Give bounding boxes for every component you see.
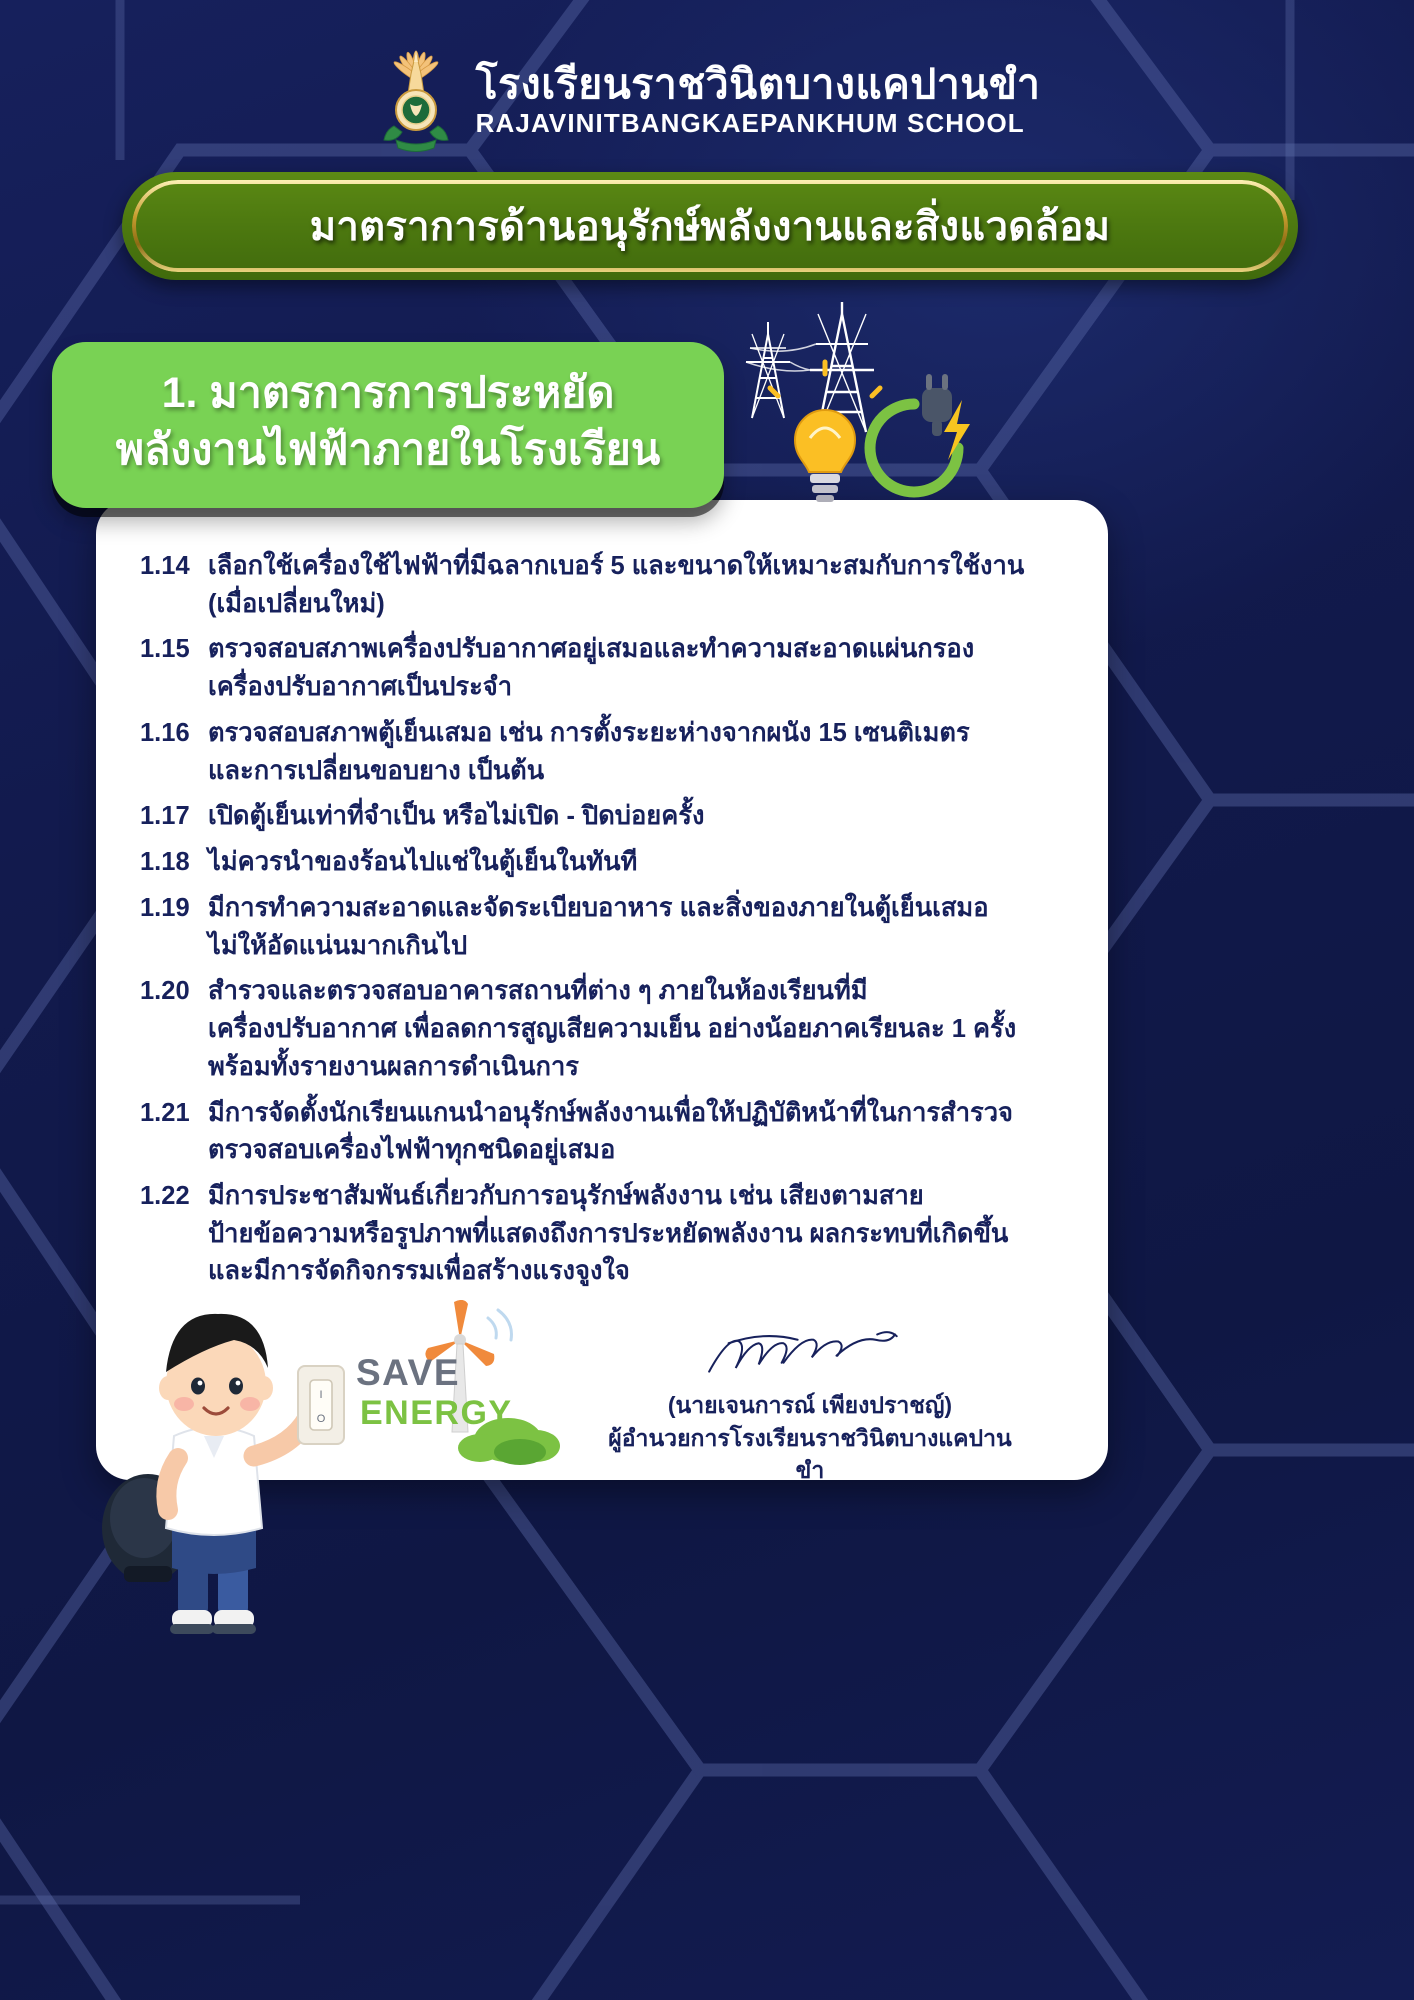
measure-text-line: เลือกใช้เครื่องใช้ไฟฟ้าที่มีฉลากเบอร์ 5 …: [208, 548, 1030, 586]
measure-text: มีการทำความสะอาดและจัดระเบียบอาหาร และสิ…: [208, 890, 1030, 965]
measure-text: เลือกใช้เครื่องใช้ไฟฟ้าที่มีฉลากเบอร์ 5 …: [208, 548, 1030, 623]
measure-text: ไม่ควรนำของร้อนไปแช่ในตู้เย็นในทันที: [208, 844, 1030, 882]
measure-number: 1.15: [140, 631, 208, 669]
light-bulb-icon: [770, 362, 880, 502]
measure-text-line: มีการจัดตั้งนักเรียนแกนนำอนุรักษ์พลังงาน…: [208, 1095, 1030, 1133]
section-heading-tab: 1. มาตรการการประหยัด พลังงานไฟฟ้าภายในโร…: [52, 342, 724, 508]
section-heading-line-1: 1. มาตรการการประหยัด: [162, 365, 615, 422]
measure-text-line: เปิดตู้เย็นเท่าที่จำเป็น หรือไม่เปิด - ป…: [208, 798, 1030, 836]
measure-item: 1.22มีการประชาสัมพันธ์เกี่ยวกับการอนุรัก…: [140, 1178, 1030, 1291]
measure-number: 1.17: [140, 798, 208, 836]
measure-number: 1.14: [140, 548, 208, 586]
measure-item: 1.21มีการจัดตั้งนักเรียนแกนนำอนุรักษ์พลั…: [140, 1095, 1030, 1170]
student-boy-icon: I O: [86, 1280, 356, 1640]
measure-text: สำรวจและตรวจสอบอาคารสถานที่ต่าง ๆ ภายในห…: [208, 973, 1030, 1086]
light-switch-icon: I O: [298, 1366, 344, 1444]
measure-text-line: ป้ายข้อความหรือรูปภาพที่แสดงถึงการประหยั…: [208, 1216, 1030, 1254]
measure-text-line: เครื่องปรับอากาศเป็นประจำ: [208, 669, 1030, 707]
school-crest-icon: [374, 48, 458, 152]
measure-item: 1.20สำรวจและตรวจสอบอาคารสถานที่ต่าง ๆ ภา…: [140, 973, 1030, 1086]
measure-text-line: (เมื่อเปลี่ยนใหม่): [208, 586, 1030, 624]
school-name-en: RAJAVINITBANGKAEPANKHUM SCHOOL: [476, 110, 1041, 136]
measure-item: 1.17เปิดตู้เย็นเท่าที่จำเป็น หรือไม่เปิด…: [140, 798, 1030, 836]
measure-text-line: เครื่องปรับอากาศ เพื่อลดการสูญเสียความเย…: [208, 1011, 1030, 1049]
save-energy-logo: SAVE ENERGY: [348, 1300, 588, 1470]
measure-number: 1.16: [140, 715, 208, 753]
measure-text-line: ไม่ให้อัดแน่นมากเกินไป: [208, 928, 1030, 966]
header-text-group: โรงเรียนราชวินิตบางแคปานขำ RAJAVINITBANG…: [476, 64, 1041, 136]
measure-text-line: ไม่ควรนำของร้อนไปแช่ในตู้เย็นในทันที: [208, 844, 1030, 882]
section-heading-line-2: พลังงานไฟฟ้าภายในโรงเรียน: [116, 422, 661, 479]
measure-text-line: และการเปลี่ยนขอบยาง เป็นต้น: [208, 753, 1030, 791]
handwritten-signature-icon: [695, 1322, 925, 1384]
measure-text: ตรวจสอบสภาพตู้เย็นเสมอ เช่น การตั้งระยะห…: [208, 715, 1030, 790]
measure-number: 1.22: [140, 1178, 208, 1216]
director-role: ผู้อำนวยการโรงเรียนราชวินิตบางแคปานขำ: [600, 1422, 1020, 1487]
school-name-th: โรงเรียนราชวินิตบางแคปานขำ: [476, 64, 1041, 105]
poster-header: โรงเรียนราชวินิตบางแคปานขำ RAJAVINITBANG…: [0, 48, 1414, 152]
student-boy-svg: I O: [86, 1280, 356, 1640]
measure-text-line: มีการทำความสะอาดและจัดระเบียบอาหาร และสิ…: [208, 890, 1030, 928]
measure-item: 1.19มีการทำความสะอาดและจัดระเบียบอาหาร แ…: [140, 890, 1030, 965]
measure-text: ตรวจสอบสภาพเครื่องปรับอากาศอยู่เสมอและทำ…: [208, 631, 1030, 706]
measure-text: มีการประชาสัมพันธ์เกี่ยวกับการอนุรักษ์พล…: [208, 1178, 1030, 1291]
poster-title-banner: มาตราการด้านอนุรักษ์พลังงานและสิ่งแวดล้อ…: [122, 172, 1298, 280]
measure-number: 1.19: [140, 890, 208, 928]
measure-text: เปิดตู้เย็นเท่าที่จำเป็น หรือไม่เปิด - ป…: [208, 798, 1030, 836]
poster-title: มาตราการด้านอนุรักษ์พลังงานและสิ่งแวดล้อ…: [122, 172, 1298, 280]
measure-text-line: สำรวจและตรวจสอบอาคารสถานที่ต่าง ๆ ภายในห…: [208, 973, 1030, 1011]
director-name: (นายเจนการณ์ เพียงปราชญ์): [600, 1389, 1020, 1422]
energy-graphic: [700, 300, 1010, 540]
power-plug-icon: [870, 374, 958, 492]
save-energy-line-1: SAVE: [356, 1352, 460, 1394]
measure-text-line: ตรวจสอบสภาพตู้เย็นเสมอ เช่น การตั้งระยะห…: [208, 715, 1030, 753]
save-energy-line-2: ENERGY: [360, 1394, 513, 1433]
measure-number: 1.18: [140, 844, 208, 882]
svg-text:I: I: [319, 1389, 322, 1401]
measure-number: 1.20: [140, 973, 208, 1011]
measure-number: 1.21: [140, 1095, 208, 1133]
measures-list: 1.14เลือกใช้เครื่องใช้ไฟฟ้าที่มีฉลากเบอร…: [140, 548, 1030, 1299]
signature-block: (นายเจนการณ์ เพียงปราชญ์) ผู้อำนวยการโรง…: [600, 1322, 1020, 1487]
measure-text-line: พร้อมทั้งรายงานผลการดำเนินการ: [208, 1049, 1030, 1087]
measure-item: 1.16ตรวจสอบสภาพตู้เย็นเสมอ เช่น การตั้งร…: [140, 715, 1030, 790]
measure-item: 1.14เลือกใช้เครื่องใช้ไฟฟ้าที่มีฉลากเบอร…: [140, 548, 1030, 623]
measure-text-line: มีการประชาสัมพันธ์เกี่ยวกับการอนุรักษ์พล…: [208, 1178, 1030, 1216]
energy-graphic-svg: [700, 300, 1010, 540]
measure-text-line: ตรวจสอบเครื่องไฟฟ้าทุกชนิดอยู่เสมอ: [208, 1132, 1030, 1170]
measure-text-line: ตรวจสอบสภาพเครื่องปรับอากาศอยู่เสมอและทำ…: [208, 631, 1030, 669]
measure-item: 1.15ตรวจสอบสภาพเครื่องปรับอากาศอยู่เสมอแ…: [140, 631, 1030, 706]
measure-item: 1.18ไม่ควรนำของร้อนไปแช่ในตู้เย็นในทันที: [140, 844, 1030, 882]
measure-text: มีการจัดตั้งนักเรียนแกนนำอนุรักษ์พลังงาน…: [208, 1095, 1030, 1170]
svg-text:O: O: [317, 1413, 326, 1425]
